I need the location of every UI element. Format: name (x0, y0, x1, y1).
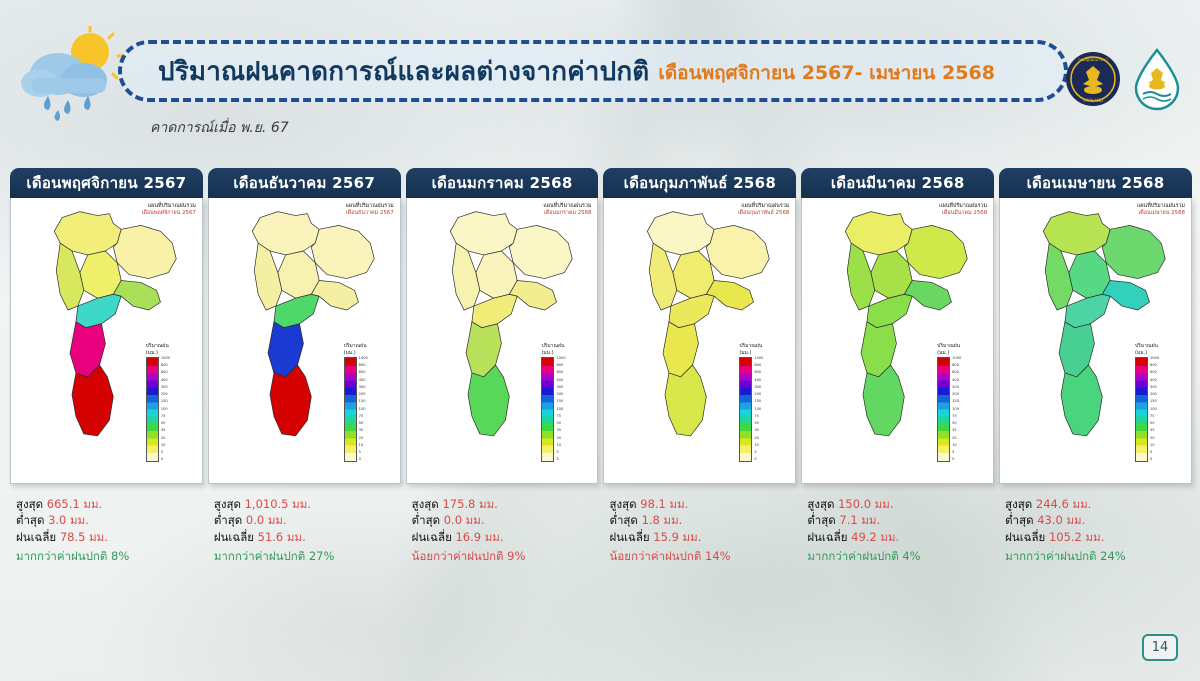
map-region-upper-south (669, 294, 714, 327)
forecast-panel: เดือนพฤศจิกายน 2567 แผนที่ปริมาณฝนรวม เด… (10, 168, 203, 588)
legend-tick: 200 (161, 393, 170, 397)
legend-tick: 5 (754, 451, 763, 455)
legend-title: ปริมาณฝน(มม.) (937, 343, 981, 356)
legend-tick: 100 (952, 408, 961, 412)
legend-tick: 800 (952, 364, 961, 368)
legend-tick: 400 (556, 379, 565, 383)
legend-colorbar (146, 357, 159, 462)
legend-tick: 200 (1150, 393, 1159, 397)
map-region-east (905, 280, 952, 310)
legend-tick: 10 (161, 444, 170, 448)
map-region-northeast (707, 225, 770, 278)
legend-tick: 10 (359, 444, 368, 448)
legend-tick: 75 (359, 415, 368, 419)
stat-min: ต่ำสุด 0.0 มม. (412, 512, 597, 528)
legend-tick: 300 (1150, 386, 1159, 390)
legend-tick: 600 (952, 371, 961, 375)
stat-avg: ฝนเฉลี่ย 51.6 มม. (214, 529, 399, 545)
map-region-lower-south (665, 365, 706, 436)
stat-min: ต่ำสุด 1.8 มม. (609, 512, 794, 528)
legend-title: ปริมาณฝน(มม.) (739, 343, 783, 356)
stat-avg: ฝนเฉลี่ย 105.2 มม. (1005, 529, 1190, 545)
map-region-northeast (113, 225, 176, 278)
stat-anomaly: มากกว่าค่าฝนปกติ 24% (1005, 548, 1190, 564)
legend-tick: 1000 (952, 357, 961, 361)
title-plate: ปริมาณฝนคาดการณ์และผลต่างจากค่าปกติ เดือ… (118, 40, 1068, 102)
legend-colorbar (937, 357, 950, 462)
legend-tick: 1000 (161, 357, 170, 361)
legend-tick: 800 (161, 364, 170, 368)
legend-tick: 5 (359, 451, 368, 455)
rainfall-legend: ปริมาณฝน(มม.) 10008006004003002001501007… (739, 343, 783, 471)
stat-avg: ฝนเฉลี่ย 78.5 มม. (16, 529, 201, 545)
legend-title: ปริมาณฝน(มม.) (344, 343, 388, 356)
map-region-lower-south (863, 365, 904, 436)
royal-garuda-seal-logo: กรมอุตุนิยมวิทยา THAILAND (1062, 46, 1124, 114)
map-region-upper-south (1065, 294, 1110, 327)
legend-tick: 75 (556, 415, 565, 419)
legend-tick: 400 (359, 379, 368, 383)
forecast-panel: เดือนธันวาคม 2567 แผนที่ปริมาณฝนรวม เดือ… (208, 168, 401, 588)
map-region-lower-south (270, 365, 311, 436)
legend-tick: 0 (556, 458, 565, 462)
legend-tick: 50 (754, 422, 763, 426)
panel-map-body: แผนที่ปริมาณฝนรวม เดือนกุมภาพันธ์ 2568 ป… (603, 198, 796, 484)
legend-tick: 0 (359, 458, 368, 462)
stat-min: ต่ำสุด 7.1 มม. (807, 512, 992, 528)
legend-tick-labels: 1000800600400300200150100755035201050 (556, 357, 565, 462)
stat-max: สูงสุด 665.1 มม. (16, 496, 201, 512)
panel-month-header: เดือนมกราคม 2568 (406, 168, 599, 198)
legend-tick: 10 (754, 444, 763, 448)
svg-text:THAILAND: THAILAND (1082, 98, 1104, 103)
legend-tick: 400 (1150, 379, 1159, 383)
legend-tick: 200 (359, 393, 368, 397)
rainfall-legend: ปริมาณฝน(มม.) 10008006004003002001501007… (1135, 343, 1179, 471)
legend-colorbar (739, 357, 752, 462)
stat-avg: ฝนเฉลี่ย 15.9 มม. (609, 529, 794, 545)
legend-tick: 5 (1150, 451, 1159, 455)
panel-statistics: สูงสุด 175.8 มม. ต่ำสุด 0.0 มม. ฝนเฉลี่ย… (406, 484, 599, 564)
map-region-lower-south (1061, 365, 1102, 436)
legend-tick: 5 (161, 451, 170, 455)
legend-tick-labels: 1000800600400300200150100755035201050 (359, 357, 368, 462)
legend-tick: 100 (754, 408, 763, 412)
monthly-forecast-panels: เดือนพฤศจิกายน 2567 แผนที่ปริมาณฝนรวม เด… (10, 168, 1192, 588)
legend-tick: 400 (161, 379, 170, 383)
legend-tick: 200 (952, 393, 961, 397)
map-region-upper-south (472, 294, 517, 327)
stat-max: สูงสุด 1,010.5 มม. (214, 496, 399, 512)
legend-tick: 1000 (359, 357, 368, 361)
map-region-east (509, 280, 556, 310)
legend-tick: 300 (161, 386, 170, 390)
map-region-northeast (311, 225, 374, 278)
stat-min: ต่ำสุด 3.0 มม. (16, 512, 201, 528)
legend-tick: 1000 (754, 357, 763, 361)
panel-month-header: เดือนเมษายน 2568 (999, 168, 1192, 198)
legend-tick: 100 (556, 408, 565, 412)
legend-tick: 100 (161, 408, 170, 412)
legend-tick: 200 (754, 393, 763, 397)
legend-tick: 150 (556, 400, 565, 404)
legend-tick: 800 (556, 364, 565, 368)
legend-tick: 50 (1150, 422, 1159, 426)
map-region-lower-south (72, 365, 113, 436)
legend-tick: 10 (1150, 444, 1159, 448)
legend-title: ปริมาณฝน(มม.) (1135, 343, 1179, 356)
legend-title: ปริมาณฝน(มม.) (146, 343, 190, 356)
legend-tick: 0 (952, 458, 961, 462)
stat-min: ต่ำสุด 43.0 มม. (1005, 512, 1190, 528)
forecast-panel: เดือนมกราคม 2568 แผนที่ปริมาณฝนรวม เดือน… (406, 168, 599, 588)
legend-tick-labels: 1000800600400300200150100755035201050 (952, 357, 961, 462)
legend-colorbar (344, 357, 357, 462)
legend-tick: 35 (754, 429, 763, 433)
legend-tick: 5 (952, 451, 961, 455)
legend-tick: 10 (556, 444, 565, 448)
stat-anomaly: น้อยกว่าค่าฝนปกติ 9% (412, 548, 597, 564)
stat-max: สูงสุด 175.8 มม. (412, 496, 597, 512)
legend-tick: 20 (359, 437, 368, 441)
legend-tick: 1000 (556, 357, 565, 361)
legend-tick: 300 (952, 386, 961, 390)
water-drop-department-logo (1126, 46, 1188, 114)
legend-tick: 600 (359, 371, 368, 375)
legend-tick: 50 (952, 422, 961, 426)
legend-tick: 800 (1150, 364, 1159, 368)
panel-month-header: เดือนมีนาคม 2568 (801, 168, 994, 198)
legend-tick: 20 (1150, 437, 1159, 441)
map-region-lower-south (468, 365, 509, 436)
map-region-upper-south (76, 294, 121, 327)
panel-month-header: เดือนพฤศจิกายน 2567 (10, 168, 203, 198)
stat-min: ต่ำสุด 0.0 มม. (214, 512, 399, 528)
legend-tick: 100 (359, 408, 368, 412)
legend-tick: 75 (1150, 415, 1159, 419)
panel-map-body: แผนที่ปริมาณฝนรวม เดือนธันวาคม 2567 ปริม… (208, 198, 401, 484)
legend-tick: 100 (1150, 408, 1159, 412)
legend-tick: 75 (952, 415, 961, 419)
legend-tick: 150 (1150, 400, 1159, 404)
map-region-east (707, 280, 754, 310)
forecast-panel: เดือนกุมภาพันธ์ 2568 แผนที่ปริมาณฝนรวม เ… (603, 168, 796, 588)
legend-tick: 35 (359, 429, 368, 433)
legend-tick: 400 (952, 379, 961, 383)
legend-tick: 600 (1150, 371, 1159, 375)
legend-tick: 400 (754, 379, 763, 383)
stat-max: สูงสุด 98.1 มม. (609, 496, 794, 512)
legend-tick: 35 (556, 429, 565, 433)
map-region-northeast (905, 225, 968, 278)
legend-tick: 1000 (1150, 357, 1159, 361)
legend-tick: 75 (754, 415, 763, 419)
stat-max: สูงสุด 244.6 มม. (1005, 496, 1190, 512)
page-subtitle-period: เดือนพฤศจิกายน 2567- เมษายน 2568 (658, 55, 995, 88)
rainfall-legend: ปริมาณฝน(มม.) 10008006004003002001501007… (146, 343, 190, 471)
page-number-badge: 14 (1142, 634, 1178, 661)
stat-anomaly: มากกว่าค่าฝนปกติ 4% (807, 548, 992, 564)
legend-tick: 35 (1150, 429, 1159, 433)
legend-tick: 50 (556, 422, 565, 426)
panel-month-header: เดือนกุมภาพันธ์ 2568 (603, 168, 796, 198)
panel-map-body: แผนที่ปริมาณฝนรวม เดือนเมษายน 2568 ปริมา… (999, 198, 1192, 484)
stat-anomaly: มากกว่าค่าฝนปกติ 8% (16, 548, 201, 564)
legend-tick: 5 (556, 451, 565, 455)
legend-tick: 200 (556, 393, 565, 397)
legend-tick: 35 (952, 429, 961, 433)
map-region-upper-south (867, 294, 912, 327)
stat-avg: ฝนเฉลี่ย 16.9 มม. (412, 529, 597, 545)
map-region-east (311, 280, 358, 310)
legend-tick-labels: 1000800600400300200150100755035201050 (1150, 357, 1159, 462)
legend-tick: 35 (161, 429, 170, 433)
legend-tick: 600 (754, 371, 763, 375)
legend-tick: 150 (952, 400, 961, 404)
panel-map-body: แผนที่ปริมาณฝนรวม เดือนมีนาคม 2568 ปริมา… (801, 198, 994, 484)
header-band: ปริมาณฝนคาดการณ์และผลต่างจากค่าปกติ เดือ… (0, 0, 1200, 160)
forecast-panel: เดือนเมษายน 2568 แผนที่ปริมาณฝนรวม เดือน… (999, 168, 1192, 588)
legend-tick-labels: 1000800600400300200150100755035201050 (161, 357, 170, 462)
map-region-east (1102, 280, 1149, 310)
forecast-issue-note: คาดการณ์เมื่อ พ.ย. 67 (150, 117, 289, 139)
legend-tick: 600 (556, 371, 565, 375)
legend-tick: 0 (754, 458, 763, 462)
legend-tick: 20 (952, 437, 961, 441)
legend-colorbar (1135, 357, 1148, 462)
panel-statistics: สูงสุด 244.6 มม. ต่ำสุด 43.0 มม. ฝนเฉลี่… (999, 484, 1192, 564)
panel-map-body: แผนที่ปริมาณฝนรวม เดือนพฤศจิกายน 2567 ปร… (10, 198, 203, 484)
legend-tick-labels: 1000800600400300200150100755035201050 (754, 357, 763, 462)
legend-tick: 50 (161, 422, 170, 426)
legend-tick: 0 (161, 458, 170, 462)
legend-tick: 20 (556, 437, 565, 441)
legend-tick: 300 (556, 386, 565, 390)
panel-statistics: สูงสุด 98.1 มม. ต่ำสุด 1.8 มม. ฝนเฉลี่ย … (603, 484, 796, 564)
map-region-northeast (1102, 225, 1165, 278)
panel-statistics: สูงสุด 1,010.5 มม. ต่ำสุด 0.0 มม. ฝนเฉลี… (208, 484, 401, 564)
legend-tick: 0 (1150, 458, 1159, 462)
legend-tick: 800 (754, 364, 763, 368)
legend-tick: 150 (359, 400, 368, 404)
legend-tick: 300 (754, 386, 763, 390)
legend-tick: 150 (754, 400, 763, 404)
stat-avg: ฝนเฉลี่ย 49.2 มม. (807, 529, 992, 545)
stat-anomaly: น้อยกว่าค่าฝนปกติ 14% (609, 548, 794, 564)
rainfall-legend: ปริมาณฝน(มม.) 10008006004003002001501007… (937, 343, 981, 471)
stat-max: สูงสุด 150.0 มม. (807, 496, 992, 512)
legend-tick: 75 (161, 415, 170, 419)
legend-tick: 20 (754, 437, 763, 441)
map-region-northeast (509, 225, 572, 278)
stat-anomaly: มากกว่าค่าฝนปกติ 27% (214, 548, 399, 564)
legend-tick: 800 (359, 364, 368, 368)
panel-statistics: สูงสุด 150.0 มม. ต่ำสุด 7.1 มม. ฝนเฉลี่ย… (801, 484, 994, 564)
legend-tick: 50 (359, 422, 368, 426)
legend-tick: 150 (161, 400, 170, 404)
legend-tick: 10 (952, 444, 961, 448)
panel-map-body: แผนที่ปริมาณฝนรวม เดือนมกราคม 2568 ปริมา… (406, 198, 599, 484)
legend-title: ปริมาณฝน(มม.) (541, 343, 585, 356)
legend-colorbar (541, 357, 554, 462)
panel-statistics: สูงสุด 665.1 มม. ต่ำสุด 3.0 มม. ฝนเฉลี่ย… (10, 484, 203, 564)
page-title: ปริมาณฝนคาดการณ์และผลต่างจากค่าปกติ (158, 51, 649, 92)
rainfall-legend: ปริมาณฝน(มม.) 10008006004003002001501007… (541, 343, 585, 471)
map-region-east (113, 280, 160, 310)
map-region-upper-south (274, 294, 319, 327)
legend-tick: 20 (161, 437, 170, 441)
legend-tick: 600 (161, 371, 170, 375)
forecast-panel: เดือนมีนาคม 2568 แผนที่ปริมาณฝนรวม เดือน… (801, 168, 994, 588)
rainfall-legend: ปริมาณฝน(มม.) 10008006004003002001501007… (344, 343, 388, 471)
legend-tick: 300 (359, 386, 368, 390)
panel-month-header: เดือนธันวาคม 2567 (208, 168, 401, 198)
